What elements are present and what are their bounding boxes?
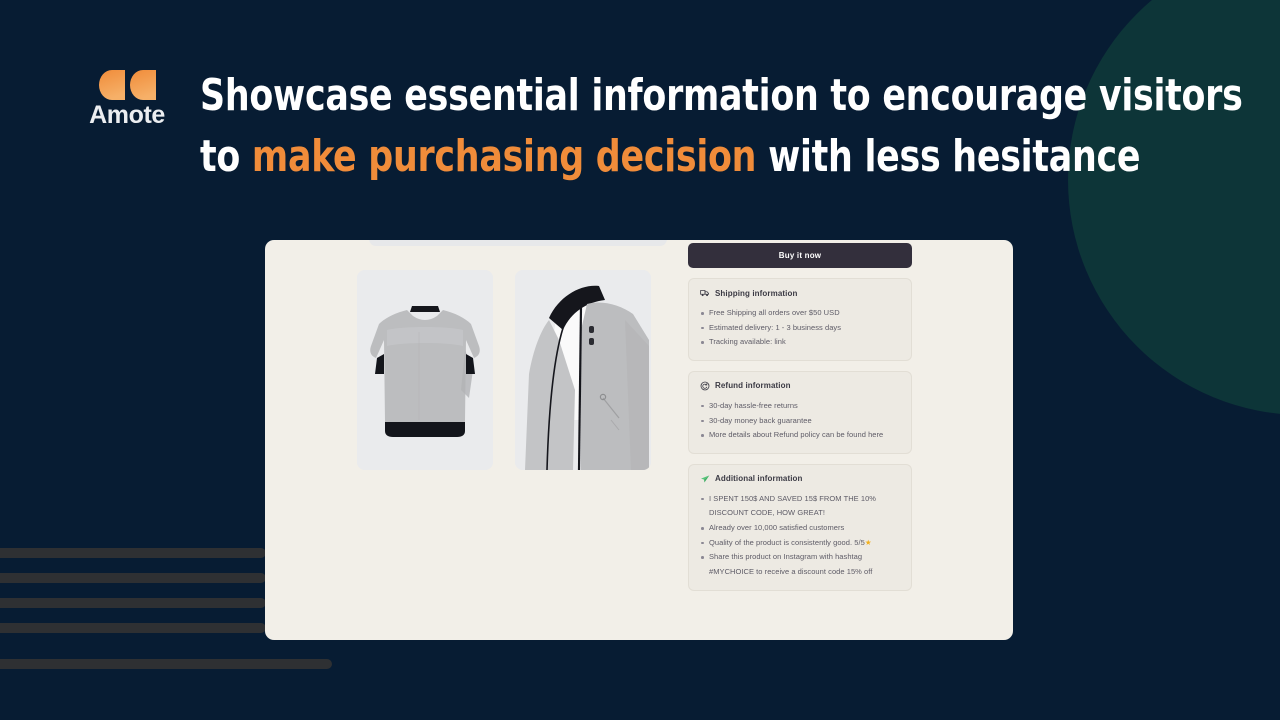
- headline-text-1: Showcase essential information to encour…: [200, 70, 1243, 121]
- decorative-bar: [0, 573, 266, 583]
- panel-title: Refund information: [715, 381, 791, 390]
- list-item: More details about Refund policy can be …: [700, 428, 900, 443]
- headline-accent: make purchasing decision: [252, 131, 756, 182]
- list-item: Free Shipping all orders over $50 USD: [700, 306, 900, 321]
- list-item: Quality of the product is consistently g…: [700, 536, 900, 551]
- list-item: Share this product on Instagram with has…: [700, 550, 900, 579]
- star-icon: ★: [865, 538, 872, 547]
- product-image-front[interactable]: [515, 270, 651, 470]
- headline-text-2a: to: [200, 131, 252, 182]
- refund-information-panel: Refund information 30-day hassle-free re…: [688, 371, 912, 454]
- list-item: Estimated delivery: 1 - 3 business days: [700, 321, 900, 336]
- header: Amote Showcase essential information to …: [0, 66, 1280, 187]
- decorative-bar: [0, 598, 266, 608]
- product-preview-card: Buy it now Shipping information Free Shi…: [265, 240, 1013, 640]
- list-item: 30-day money back guarantee: [700, 414, 900, 429]
- partial-card-above: [369, 240, 667, 246]
- refund-badge-icon: [700, 381, 710, 391]
- product-info-column: Buy it now Shipping information Free Shi…: [688, 243, 912, 601]
- brand-logo: Amote: [62, 70, 192, 128]
- list-item: 30-day hassle-free returns: [700, 399, 900, 414]
- panel-list: Free Shipping all orders over $50 USD Es…: [700, 306, 900, 350]
- headline-line-2: to make purchasing decision with less he…: [200, 127, 1243, 188]
- list-item-text: Quality of the product is consistently g…: [709, 538, 865, 547]
- panel-list: I SPENT 150$ AND SAVED 15$ FROM THE 10% …: [700, 492, 900, 580]
- panel-header: Additional information: [700, 474, 900, 484]
- panel-list: 30-day hassle-free returns 30-day money …: [700, 399, 900, 443]
- headline-line-1: Showcase essential information to encour…: [200, 66, 1243, 127]
- panel-title: Shipping information: [715, 289, 797, 298]
- product-image-back[interactable]: [357, 270, 493, 470]
- additional-information-panel: Additional information I SPENT 150$ AND …: [688, 464, 912, 591]
- page-headline: Showcase essential information to encour…: [200, 66, 1243, 187]
- panel-header: Refund information: [700, 381, 900, 391]
- decorative-bar: [0, 659, 332, 669]
- list-item: I SPENT 150$ AND SAVED 15$ FROM THE 10% …: [700, 492, 900, 521]
- decorative-bar: [0, 623, 266, 633]
- headline-text-2b: with less hesitance: [756, 131, 1140, 182]
- panel-header: Shipping information: [700, 288, 900, 298]
- panel-title: Additional information: [715, 474, 803, 483]
- list-item: Already over 10,000 satisfied customers: [700, 521, 900, 536]
- list-item: Tracking available: link: [700, 335, 900, 350]
- buy-it-now-button[interactable]: Buy it now: [688, 243, 912, 268]
- product-gallery: [357, 270, 651, 470]
- decorative-circle: [1068, 0, 1280, 415]
- decorative-bar: [0, 548, 266, 558]
- truck-icon: [700, 288, 710, 298]
- paper-plane-icon: [700, 474, 710, 484]
- brand-name: Amote: [62, 103, 192, 128]
- quotation-marks-icon: [62, 70, 192, 100]
- shipping-information-panel: Shipping information Free Shipping all o…: [688, 278, 912, 361]
